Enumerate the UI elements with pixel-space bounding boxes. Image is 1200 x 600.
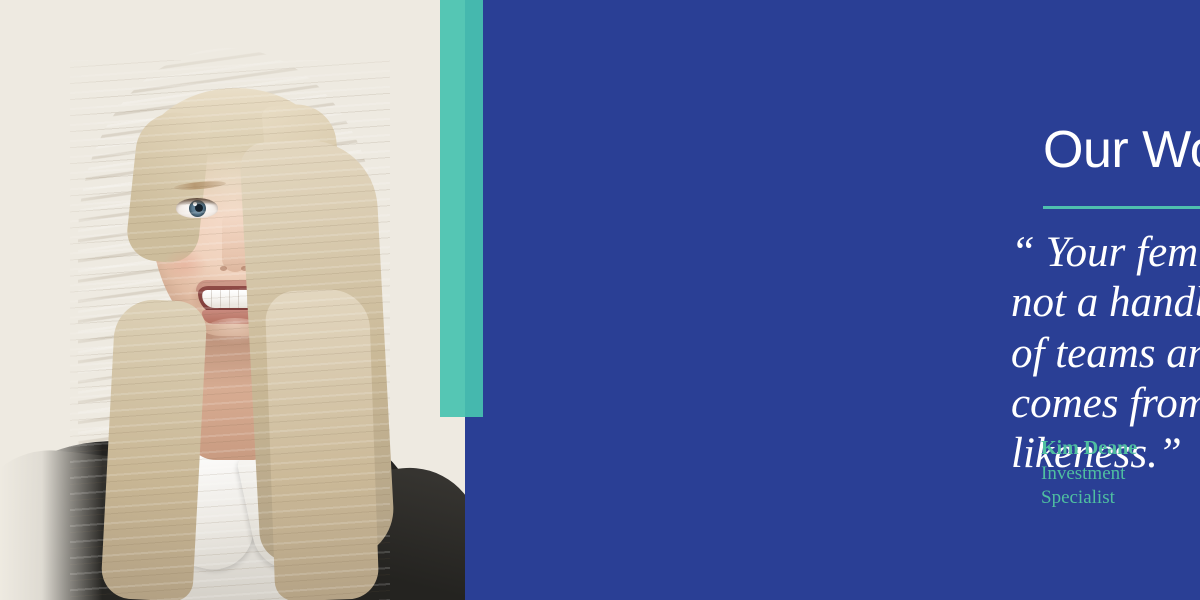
nostril-left (220, 266, 227, 271)
attribution-role: Investment Specialist (1041, 462, 1200, 511)
content-panel: Our Women in Focus “ Your femininity is … (483, 0, 1200, 600)
portrait-photo-panel (0, 0, 465, 600)
hair-front-right (265, 288, 380, 600)
title-divider (1043, 206, 1200, 209)
attribution: Kim Deane Investment Specialist (1041, 436, 1200, 511)
campaign-title-plain: Our Women in (1043, 121, 1200, 179)
campaign-banner: Our Women in Focus “ Your femininity is … (0, 0, 1200, 600)
teal-accent-bar-light (440, 0, 465, 417)
blue-panel-extension (465, 417, 483, 600)
attribution-name: Kim Deane (1041, 436, 1200, 462)
teal-accent-bar-dark (465, 0, 483, 417)
campaign-title: Our Women in Focus (1043, 122, 1200, 179)
hair-front-left (100, 298, 208, 600)
portrait-image (0, 0, 465, 600)
